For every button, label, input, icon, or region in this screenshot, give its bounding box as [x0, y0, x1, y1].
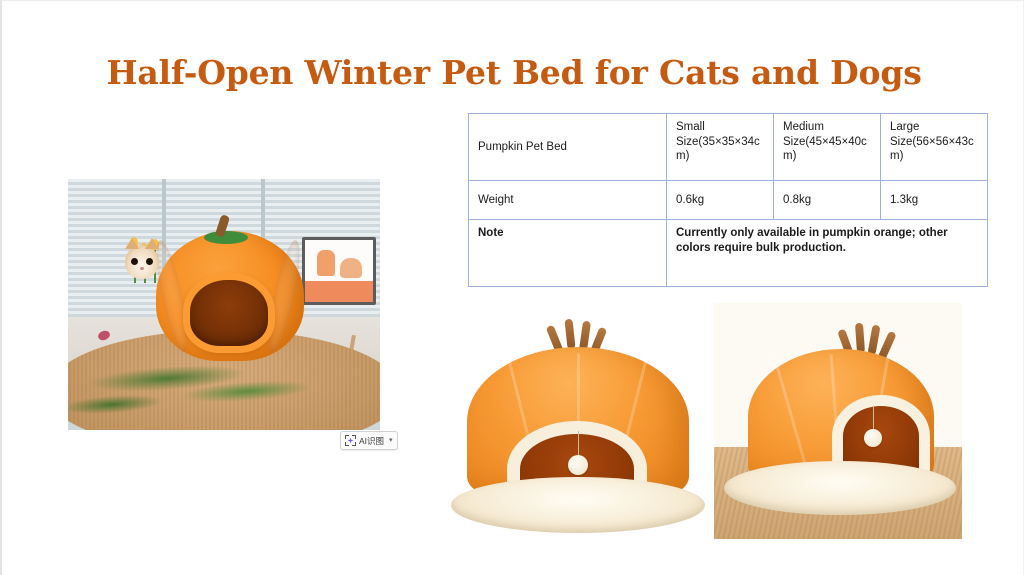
note-label-cell: Note — [469, 220, 667, 287]
product-angled-view-photo — [714, 303, 962, 539]
kitten-eye-left — [131, 258, 138, 265]
pumpkin-leaf — [204, 231, 248, 244]
fur-skirt-base — [724, 461, 956, 515]
weight-label-cell: Weight — [469, 181, 667, 220]
kitten-ear-right — [145, 238, 159, 249]
table-row: Pumpkin Pet Bed Small Size(35×35×34cm) M… — [469, 114, 988, 181]
chevron-down-icon[interactable]: ▾ — [389, 437, 393, 444]
ai-image-recognition-badge[interactable]: AI识图 ▾ — [340, 431, 398, 450]
table-row: Note Currently only available in pumpkin… — [469, 220, 988, 287]
specification-table: Pumpkin Pet Bed Small Size(35×35×34cm) M… — [468, 113, 988, 287]
bed-opening-rim — [183, 273, 275, 353]
pompom-string — [578, 431, 579, 457]
weight-medium-cell: 0.8kg — [774, 181, 881, 220]
weight-small-cell: 0.6kg — [667, 181, 774, 220]
kitten — [125, 245, 159, 279]
cat-in-pumpkin-bed-photo — [68, 179, 380, 430]
illustration-cat-icon — [317, 250, 335, 276]
size-large-cell: Large Size(56×56×43cm) — [881, 114, 988, 181]
product-front-view-photo — [445, 303, 710, 539]
product-name-cell: Pumpkin Pet Bed — [469, 114, 667, 181]
ai-scan-icon — [345, 435, 356, 446]
kitten-nose — [140, 267, 144, 270]
pompom-string — [873, 407, 874, 431]
hanging-pompom — [864, 429, 882, 447]
weight-large-cell: 1.3kg — [881, 181, 988, 220]
illustration-dog-icon — [340, 258, 362, 278]
size-medium-cell: Medium Size(45×45×40cm) — [774, 114, 881, 181]
size-small-cell: Small Size(35×35×34cm) — [667, 114, 774, 181]
kitten-eye-right — [146, 258, 153, 265]
fur-skirt-base — [451, 477, 705, 533]
note-text-cell: Currently only available in pumpkin oran… — [667, 220, 988, 287]
hanging-pompom — [568, 455, 588, 475]
table-row: Weight 0.6kg 0.8kg 1.3kg — [469, 181, 988, 220]
kitten-ear-left — [125, 238, 139, 249]
illustration-band — [305, 281, 373, 302]
page-title: Half-Open Winter Pet Bed for Cats and Do… — [2, 53, 1024, 92]
slide-canvas: Half-Open Winter Pet Bed for Cats and Do… — [0, 0, 1024, 575]
framed-pet-illustration — [302, 237, 376, 305]
ai-badge-label: AI识图 — [359, 435, 384, 447]
